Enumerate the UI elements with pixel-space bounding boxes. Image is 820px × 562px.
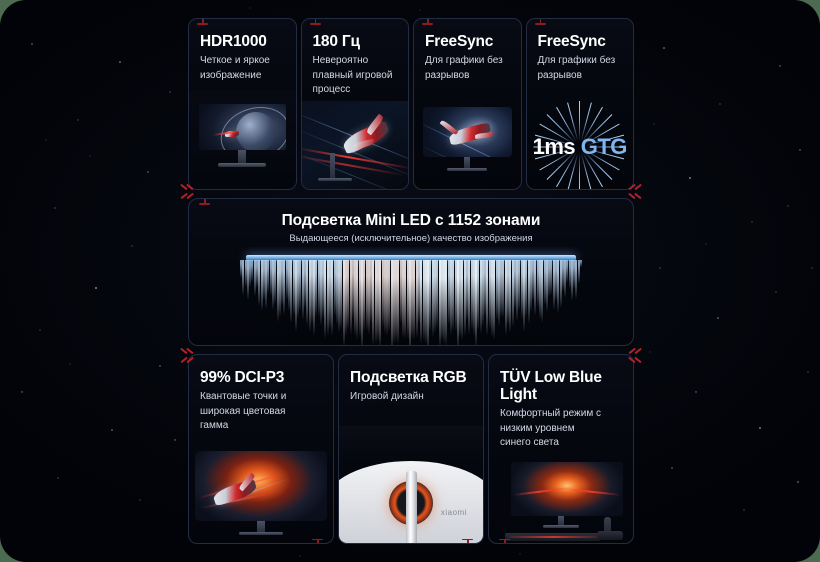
card-header: 99% DCI-P3 Квантовые точки и широкая цве…	[189, 355, 333, 434]
mini-led-row: Подсветка Mini LED с 1152 зонами Выдающе…	[188, 198, 634, 346]
gtg-value: 1ms	[533, 134, 576, 159]
card-subtitle: Четкое и яркое изображение	[200, 54, 286, 83]
card-title: 180 Гц	[313, 33, 399, 50]
card-subtitle: Для графики без разрывов	[425, 54, 511, 83]
card-title: HDR1000	[200, 33, 286, 50]
card-title: FreeSync	[425, 33, 511, 50]
corner-accent-tick	[197, 23, 208, 25]
mini-led-title: Подсветка Mini LED с 1152 зонами	[189, 212, 633, 230]
stand-post	[406, 471, 417, 543]
hdr-monitor-artwork	[189, 90, 296, 189]
card-header: HDR1000 Четкое и яркое изображение	[189, 19, 296, 83]
feature-card-freesync-1[interactable]: FreeSync Для графики без разрывов	[413, 18, 522, 190]
card-subtitle: Игровой дизайн	[350, 390, 473, 405]
corner-accent-tick	[310, 23, 321, 25]
feature-grid: HDR1000 Четкое и яркое изображение	[188, 18, 634, 544]
gtg-badge-artwork: 1ms GTG	[527, 101, 634, 189]
card-header: FreeSync Для графики без разрывов	[527, 19, 634, 83]
mini-led-subtitle: Выдающееся (исключительное) качество изо…	[189, 233, 633, 244]
corner-accent-tick	[462, 539, 473, 541]
top-row: HDR1000 Четкое и яркое изображение	[188, 18, 634, 190]
card-subtitle: Комфортный режим с низким уровнем синего…	[500, 407, 623, 451]
feature-card-freesync-2[interactable]: FreeSync Для графики без разрывов	[526, 18, 635, 190]
corner-accent-tick	[422, 23, 433, 25]
card-header: FreeSync Для графики без разрывов	[414, 19, 521, 83]
feature-card-rgb[interactable]: Подсветка RGB Игровой дизайн xiaomi	[338, 354, 484, 544]
corner-accent-tick	[199, 203, 210, 205]
brand-wordmark: xiaomi	[441, 508, 467, 517]
card-title: Подсветка RGB	[350, 369, 473, 386]
card-header: Подсветка RGB Игровой дизайн	[339, 355, 483, 405]
quantum-dot-artwork	[189, 445, 333, 543]
card-title: TÜV Low Blue Light	[500, 369, 623, 403]
card-title: 99% DCI-P3	[200, 369, 323, 386]
led-zone-drips	[240, 260, 582, 345]
card-subtitle: Невероятно плавный игровой процесс	[313, 54, 399, 98]
card-subtitle: Квантовые точки и широкая цветовая гамма	[200, 390, 323, 434]
gtg-unit: GTG	[581, 134, 627, 159]
corner-accent-tick	[312, 539, 323, 541]
product-feature-page: HDR1000 Четкое и яркое изображение	[0, 0, 820, 562]
feature-card-hdr1000[interactable]: HDR1000 Четкое и яркое изображение	[188, 18, 297, 190]
corner-accent-tick	[535, 23, 546, 25]
card-subtitle: Для графики без разрывов	[538, 54, 624, 83]
feature-card-mini-led[interactable]: Подсветка Mini LED с 1152 зонами Выдающе…	[188, 198, 634, 346]
motion-jet-artwork	[302, 101, 409, 189]
corner-accent-tick	[499, 539, 510, 541]
freesync-helicopter-artwork	[414, 97, 521, 189]
mini-led-header: Подсветка Mini LED с 1152 зонами Выдающе…	[189, 199, 633, 244]
card-header: 180 Гц Невероятно плавный игровой процес…	[302, 19, 409, 98]
mini-led-zones-visual	[189, 247, 633, 345]
gtg-badge: 1ms GTG	[527, 134, 634, 160]
desk-setup-artwork	[489, 460, 633, 543]
card-header: TÜV Low Blue Light Комфортный режим с ни…	[489, 355, 633, 451]
feature-card-tuv-low-blue-light[interactable]: TÜV Low Blue Light Комфортный режим с ни…	[488, 354, 634, 544]
bottom-row: 99% DCI-P3 Квантовые точки и широкая цве…	[188, 354, 634, 544]
feature-card-180hz[interactable]: 180 Гц Невероятно плавный игровой процес…	[301, 18, 410, 190]
rgb-stand-artwork: xiaomi	[339, 426, 483, 543]
feature-card-dci-p3[interactable]: 99% DCI-P3 Квантовые точки и широкая цве…	[188, 354, 334, 544]
gtg-label: 1ms GTG	[527, 134, 634, 160]
card-title: FreeSync	[538, 33, 624, 50]
